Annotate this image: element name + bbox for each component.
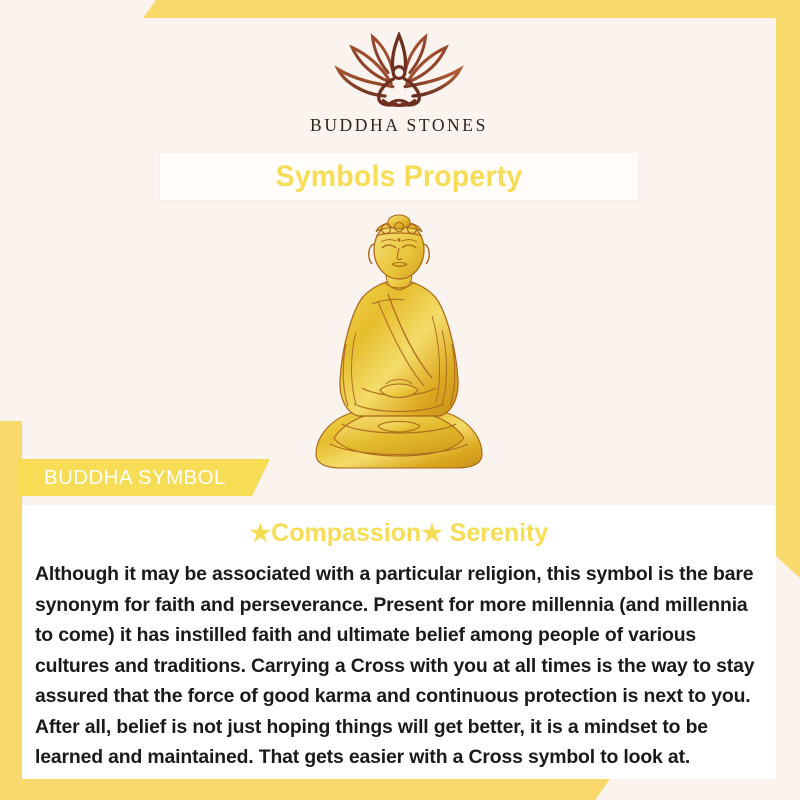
content-column: BUDDHA STONES Symbols Property [22,18,776,779]
brand-logo-block: BUDDHA STONES [22,18,776,136]
decorative-right-bar [776,18,800,578]
buddha-symbol-ribbon: BUDDHA SYMBOL [18,459,270,496]
page-title: Symbols Property [276,160,523,194]
lotus-meditation-figure-icon [319,32,479,110]
decorative-bottom-bar [0,779,610,800]
ribbon-label: BUDDHA SYMBOL [18,466,226,490]
decorative-top-bar [143,0,800,18]
star-icon-1: ★ [250,520,272,547]
attribute-serenity: Serenity [450,519,549,547]
star-icon-2: ★ [421,520,443,547]
title-banner: Symbols Property [160,153,638,200]
description-paragraph: Although it may be associated with a par… [28,559,770,773]
attributes-heading: ★Compassion★ Serenity [28,519,770,548]
infographic-page: BUDDHA STONES Symbols Property [0,0,800,800]
brand-wordmark: BUDDHA STONES [310,115,488,136]
buddha-statue-image [22,200,776,472]
description-panel: ★Compassion★ Serenity Although it may be… [22,505,776,779]
attribute-compassion: Compassion [271,519,421,547]
